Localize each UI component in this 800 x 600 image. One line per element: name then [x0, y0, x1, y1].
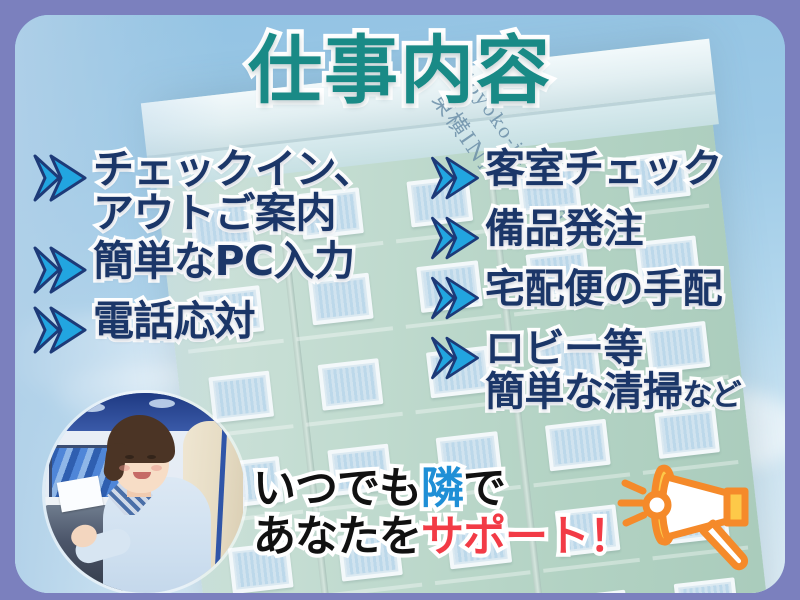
poster-card: toyoko-inn.com 東横INN — [15, 15, 785, 593]
duty-item: 備品発注 — [427, 208, 785, 264]
duty-item: 宅配便の手配 — [427, 268, 785, 324]
duty-label: 宅配便の手配 — [485, 268, 722, 311]
duty-item: ロビー等簡単な清掃など — [427, 328, 785, 414]
duty-label: 備品発注 — [485, 208, 643, 251]
duty-label: 客室チェック — [485, 148, 722, 191]
duty-item: チェックイン、アウトご案内 — [29, 148, 433, 236]
tagline-text: あなたを — [253, 512, 421, 562]
arrow-bullet-icon — [29, 304, 91, 356]
tagline-text: で — [463, 464, 505, 514]
duty-label: 電話応対 — [93, 300, 255, 344]
duty-item: 客室チェック — [427, 148, 785, 204]
arrow-bullet-icon — [427, 212, 483, 264]
arrow-bullet-icon — [427, 332, 483, 384]
poster-root: toyoko-inn.com 東横INN — [0, 0, 800, 600]
staff-photo — [45, 393, 245, 593]
duties-left-column: チェックイン、アウトご案内 簡単なPC入力 電話応対 — [29, 148, 433, 360]
duty-label: ロビー等簡単な清掃など — [485, 328, 741, 414]
duty-label: チェックイン、アウトご案内 — [93, 148, 374, 236]
duty-label-line2: 簡単な清掃 — [485, 369, 683, 415]
support-tagline: いつでも隣で あなたをサポート！ — [253, 465, 631, 561]
duty-label: 簡単なPC入力 — [93, 240, 355, 284]
tagline-highlight-blue: 隣 — [421, 464, 463, 514]
arrow-bullet-icon — [29, 152, 91, 204]
tagline-highlight-red: サポート！ — [421, 512, 631, 562]
page-title: 仕事内容 — [15, 33, 785, 111]
megaphone-icon — [617, 447, 767, 577]
tagline-line-2: あなたをサポート！ — [253, 513, 631, 561]
tagline-line-1: いつでも隣で — [253, 465, 631, 513]
duty-item: 簡単なPC入力 — [29, 240, 433, 296]
arrow-bullet-icon — [29, 244, 91, 296]
duty-item: 電話応対 — [29, 300, 433, 356]
duty-label-line1: ロビー等 — [485, 326, 643, 372]
duties-right-column: 客室チェック 備品発注 宅配便の手配 — [427, 148, 785, 418]
tagline-text: いつでも — [253, 464, 421, 514]
arrow-bullet-icon — [427, 152, 483, 204]
arrow-bullet-icon — [427, 272, 483, 324]
duty-label-suffix: など — [683, 378, 741, 413]
